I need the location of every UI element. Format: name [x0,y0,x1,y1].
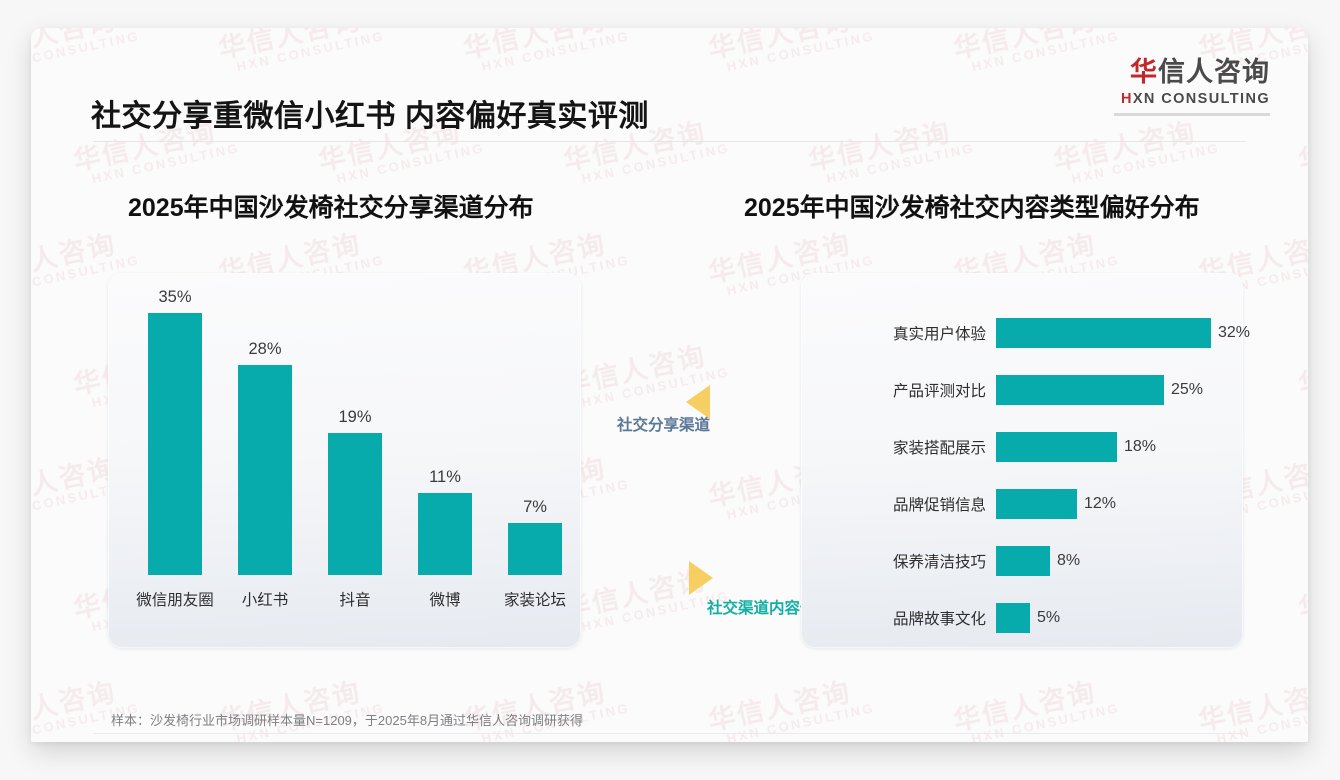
horizontal-bar-chart: 真实用户体验32%产品评测对比25%家装搭配展示18%品牌促销信息12%保养清洁… [801,273,1243,648]
bar-row: 真实用户体验32% [801,318,1243,348]
left-chart-panel: 35%微信朋友圈28%小红书19%抖音11%微博7%家装论坛 [108,273,581,648]
bar-value-label: 19% [310,408,400,427]
bar-value-label: 25% [1171,381,1203,399]
bar-column[interactable] [508,523,562,575]
bar-row: 产品评测对比25% [801,375,1243,405]
bar-column[interactable] [418,493,472,575]
logo-chinese-red: 华 [1130,57,1158,87]
header-divider [93,141,1246,142]
bar-column[interactable] [238,365,292,575]
bar-column[interactable] [996,603,1030,633]
bar-value-label: 12% [1084,495,1116,513]
bar-column[interactable] [996,375,1164,405]
logo-chinese: 华信人咨询 [1114,58,1270,88]
watermark-text: 华信人咨询HXN CONSULTING [461,674,631,742]
watermark-text: 华信人咨询HXN CONSULTING [216,674,386,742]
bar-value-label: 7% [490,498,580,517]
bar-row: 家装搭配展示18% [801,432,1243,462]
slide-background: 华信人咨询HXN CONSULTING华信人咨询HXN CONSULTING华信… [0,0,1340,780]
watermark-text: 华信人咨询HXN CONSULTING [1296,562,1308,637]
bar-category-label: 产品评测对比 [893,379,986,401]
bar-category-label: 家装搭配展示 [893,436,986,458]
logo-english: HXN CONSULTING [1114,91,1270,107]
logo-chinese-rest: 信人咨询 [1158,57,1270,87]
left-chart-title: 2025年中国沙发椅社交分享渠道分布 [128,188,534,224]
bar-column[interactable] [996,546,1050,576]
bar-column[interactable] [148,313,202,575]
bar-category-label: 品牌故事文化 [893,607,986,629]
bar-column[interactable] [996,489,1077,519]
bar-value-label: 11% [400,468,490,487]
logo-english-rest: XN CONSULTING [1133,91,1270,107]
triangle-left-icon [686,385,710,419]
logo-english-red: H [1121,91,1133,107]
bar-column[interactable] [996,432,1117,462]
bar-row: 保养清洁技巧8% [801,546,1243,576]
watermark-text: 华信人咨询HXN CONSULTING [951,674,1121,742]
watermark-text: 华信人咨询HXN CONSULTING [31,674,141,742]
right-chart-title: 2025年中国沙发椅社交内容类型偏好分布 [744,188,1200,224]
watermark-text: 华信人咨询HXN CONSULTING [1296,338,1308,413]
company-logo: 华信人咨询 HXN CONSULTING [1114,58,1270,116]
bar-category-label: 真实用户体验 [893,322,986,344]
bar-category-label: 保养清洁技巧 [893,550,986,572]
page-title: 社交分享重微信小红书 内容偏好真实评测 [91,91,649,135]
bar-column[interactable] [328,433,382,575]
slide-card: 华信人咨询HXN CONSULTING华信人咨询HXN CONSULTING华信… [31,28,1308,742]
right-chart-panel: 真实用户体验32%产品评测对比25%家装搭配展示18%品牌促销信息12%保养清洁… [801,273,1243,648]
footer-divider [93,733,1246,734]
vertical-bar-chart: 35%微信朋友圈28%小红书19%抖音11%微博7%家装论坛 [108,273,581,648]
bar-row: 品牌故事文化5% [801,603,1243,633]
logo-underline [1114,113,1270,116]
watermark-text: 华信人咨询HXN CONSULTING [806,114,976,189]
bar-category-label: 家装论坛 [480,588,590,610]
bar-value-label: 32% [1218,324,1250,342]
bar-value-label: 35% [130,288,220,307]
bar-column[interactable] [996,318,1211,348]
bar-value-label: 18% [1124,438,1156,456]
watermark-text: 华信人咨询HXN CONSULTING [706,674,876,742]
watermark-text: 华信人咨询HXN CONSULTING [1051,114,1221,189]
sample-footnote: 样本：沙发椅行业市场调研样本量N=1209，于2025年8月通过华信人咨询调研获… [111,710,583,729]
slide-header: 社交分享重微信小红书 内容偏好真实评测 华信人咨询 HXN CONSULTING [31,28,1308,120]
watermark-text: 华信人咨询HXN CONSULTING [1296,114,1308,189]
bar-value-label: 28% [220,340,310,359]
bar-row: 品牌促销信息12% [801,489,1243,519]
bar-category-label: 品牌促销信息 [893,493,986,515]
bar-value-label: 8% [1057,552,1080,570]
watermark-text: 华信人咨询HXN CONSULTING [1196,674,1308,742]
triangle-right-icon [689,561,713,595]
bar-value-label: 5% [1037,609,1060,627]
